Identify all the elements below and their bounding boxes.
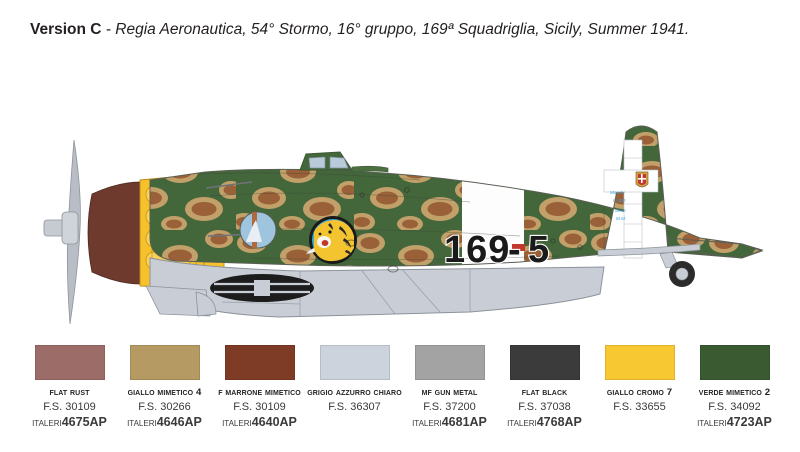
- color-name-4: MF Gun Metal: [422, 387, 478, 398]
- color-fs-1: F.S. 30266: [138, 401, 191, 413]
- code-5: 4768AP: [537, 415, 582, 429]
- fuselage-code-169: 169: [444, 229, 510, 271]
- brand-4: Italeri: [412, 417, 442, 429]
- tail-stencil-line-2: C.200: [613, 198, 626, 203]
- code-0: 4675AP: [62, 415, 107, 429]
- propeller: [44, 140, 80, 324]
- color-name-2: F Marrone Mimetico: [218, 387, 301, 398]
- color-fs-2: F.S. 30109: [233, 401, 286, 413]
- color-name-5: Flat Black: [522, 387, 568, 398]
- color-swatch-3: Grigio Azzurro Chiaro F.S. 36307: [307, 345, 402, 449]
- brand-1: Italeri: [127, 417, 157, 429]
- cockpit-canopy: [300, 152, 388, 172]
- color-chip-7: [700, 345, 770, 380]
- color-chip-2: [225, 345, 295, 380]
- fuselage-code-group: 169 - 5: [444, 229, 549, 271]
- color-swatch-1: Giallo Mimetico 4 F.S. 30266 Italeri4646…: [117, 345, 212, 449]
- tail-stencil-line-1: Macchi: [610, 190, 626, 195]
- color-chip-4: [415, 345, 485, 380]
- version-caption: Version C - Regia Aeronautica, 54° Storm…: [30, 18, 730, 42]
- color-swatch-4: MF Gun Metal F.S. 37200 Italeri4681AP: [402, 345, 497, 449]
- radiator-intake: [210, 274, 314, 302]
- caption-description: Regia Aeronautica, 54° Stormo, 16° grupp…: [115, 21, 689, 38]
- savoy-shield-crest: [636, 172, 648, 187]
- color-name-1: Giallo Mimetico 4: [128, 387, 202, 398]
- paint-color-chart: Flat Rust F.S. 30109 Italeri4675AP Giall…: [0, 345, 800, 449]
- color-swatch-7: Verde Mimetico 2 F.S. 34092 Italeri4723A…: [687, 345, 782, 449]
- brand-0: Italeri: [32, 417, 62, 429]
- color-name-6: Giallo Cromo 7: [607, 387, 672, 398]
- color-swatch-6: Giallo Cromo 7 F.S. 33655: [592, 345, 687, 449]
- fuselage-blue-marking: [240, 212, 276, 248]
- color-swatch-2: F Marrone Mimetico F.S. 30109 Italeri464…: [212, 345, 307, 449]
- color-fs-0: F.S. 30109: [43, 401, 96, 413]
- spinner: [88, 182, 140, 284]
- tail-stencil-line-4: M.M.: [616, 216, 626, 221]
- brand-7: Italeri: [697, 417, 727, 429]
- color-italeri-7: Italeri4723AP: [697, 415, 772, 429]
- code-7: 4723AP: [727, 415, 772, 429]
- color-chip-1: [130, 345, 200, 380]
- color-chip-5: [510, 345, 580, 380]
- fuselage-code-number: 5: [528, 229, 549, 271]
- code-1: 4646AP: [157, 415, 202, 429]
- fuselage-code-dash: -: [508, 229, 521, 271]
- color-chip-6: [605, 345, 675, 380]
- version-label: Version C: [30, 21, 102, 38]
- color-italeri-5: Italeri4768AP: [507, 415, 582, 429]
- tail-stencil-line-3: Serie: [615, 208, 626, 213]
- color-fs-7: F.S. 34092: [708, 401, 761, 413]
- tail-wheel: [660, 252, 695, 287]
- color-chip-0: [35, 345, 105, 380]
- brand-2: Italeri: [222, 417, 252, 429]
- color-italeri-1: Italeri4646AP: [127, 415, 202, 429]
- color-italeri-4: Italeri4681AP: [412, 415, 487, 429]
- color-chip-3: [320, 345, 390, 380]
- color-fs-3: F.S. 36307: [328, 401, 381, 413]
- color-swatch-5: Flat Black F.S. 37038 Italeri4768AP: [497, 345, 592, 449]
- color-name-7: Verde Mimetico 2: [699, 387, 770, 398]
- caption-separator: -: [102, 21, 116, 38]
- code-2: 4640AP: [252, 415, 297, 429]
- code-4: 4681AP: [442, 415, 487, 429]
- color-name-3: Grigio Azzurro Chiaro: [307, 387, 402, 398]
- color-name-0: Flat Rust: [50, 387, 90, 398]
- color-fs-5: F.S. 37038: [518, 401, 571, 413]
- color-italeri-2: Italeri4640AP: [222, 415, 297, 429]
- aircraft-profile-illustration: Macchi C.200 Serie M.M.: [0, 62, 800, 330]
- color-swatch-0: Flat Rust F.S. 30109 Italeri4675AP: [22, 345, 117, 449]
- color-fs-4: F.S. 37200: [423, 401, 476, 413]
- color-italeri-0: Italeri4675AP: [32, 415, 107, 429]
- brand-5: Italeri: [507, 417, 537, 429]
- color-fs-6: F.S. 33655: [613, 401, 666, 413]
